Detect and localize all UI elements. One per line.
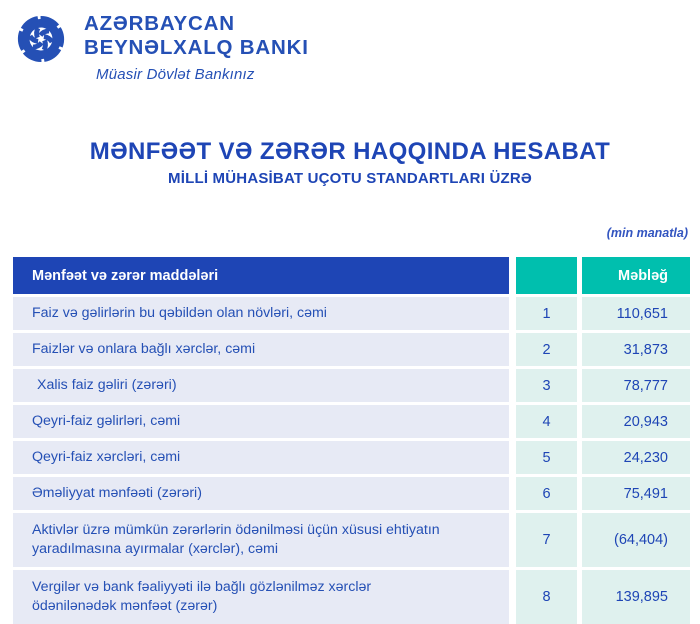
table-body: Faiz və gəlirlərin bu qəbildən olan növl… bbox=[13, 297, 690, 624]
row-number-cell: 7 bbox=[516, 513, 577, 567]
table-row: Qeyri-faiz gəlirləri, cəmi420,943 bbox=[13, 405, 690, 438]
table-row: Xalis faiz gəliri (zərəri)378,777 bbox=[13, 369, 690, 402]
pinwheel-star-logo-icon bbox=[8, 8, 74, 70]
row-number-cell: 6 bbox=[516, 477, 577, 510]
row-amount-cell: (64,404) bbox=[582, 513, 690, 567]
row-label-cell: Faiz və gəlirlərin bu qəbildən olan növl… bbox=[13, 297, 509, 330]
row-amount-cell: 24,230 bbox=[582, 441, 690, 474]
table-header-row: Mənfəət və zərər maddələri Məbləğ bbox=[13, 257, 690, 294]
brand-header: AZƏRBAYCAN BEYNƏLXALQ BANKI Müasir Dövlə… bbox=[0, 0, 700, 100]
row-number-cell: 1 bbox=[516, 297, 577, 330]
row-label-line-2: yaradılmasına ayırmalar (xərclər), cəmi bbox=[32, 540, 440, 559]
row-label-cell: Xalis faiz gəliri (zərəri) bbox=[13, 369, 509, 402]
row-amount-cell: 110,651 bbox=[582, 297, 690, 330]
row-amount-cell: 20,943 bbox=[582, 405, 690, 438]
table-row: Vergilər və bank fəaliyyəti ilə bağlı gö… bbox=[13, 570, 690, 624]
row-number-cell: 5 bbox=[516, 441, 577, 474]
column-divider bbox=[509, 441, 516, 474]
units-note: (min manatla) bbox=[607, 226, 688, 240]
row-label-cell: Qeyri-faiz xərcləri, cəmi bbox=[13, 441, 509, 474]
column-header-label: Mənfəət və zərər maddələri bbox=[13, 257, 509, 294]
row-label-cell: Aktivlər üzrə mümkün zərərlərin ödənilmə… bbox=[13, 513, 509, 567]
table-row: Əməliyyat mənfəəti (zərəri)675,491 bbox=[13, 477, 690, 510]
report-title: MƏNFƏƏT VƏ ZƏRƏR HAQQINDA HESABAT bbox=[0, 138, 700, 166]
brand-tagline: Müasir Dövlət Bankınız bbox=[96, 66, 309, 83]
column-divider bbox=[509, 570, 516, 624]
column-header-amount: Məbləğ bbox=[582, 257, 690, 294]
table-row: Faiz və gəlirlərin bu qəbildən olan növl… bbox=[13, 297, 690, 330]
column-divider bbox=[509, 513, 516, 567]
row-label-line-1: Faizlər və onlara bağlı xərclər, cəmi bbox=[32, 340, 255, 359]
row-amount-cell: 75,491 bbox=[582, 477, 690, 510]
brand-name-line-2: BEYNƏLXALQ BANKI bbox=[84, 36, 309, 60]
column-divider bbox=[509, 477, 516, 510]
row-label-line-1: Əməliyyat mənfəəti (zərəri) bbox=[32, 484, 202, 503]
table-row: Faizlər və onlara bağlı xərclər, cəmi231… bbox=[13, 333, 690, 366]
row-label-cell: Qeyri-faiz gəlirləri, cəmi bbox=[13, 405, 509, 438]
row-number-cell: 8 bbox=[516, 570, 577, 624]
brand-name-line-1: AZƏRBAYCAN bbox=[84, 12, 309, 36]
row-label-cell: Vergilər və bank fəaliyyəti ilə bağlı gö… bbox=[13, 570, 509, 624]
column-divider bbox=[509, 297, 516, 330]
column-divider bbox=[509, 369, 516, 402]
brand-text-block: AZƏRBAYCAN BEYNƏLXALQ BANKI Müasir Dövlə… bbox=[84, 12, 309, 83]
table-row: Qeyri-faiz xərcləri, cəmi524,230 bbox=[13, 441, 690, 474]
row-label-cell: Əməliyyat mənfəəti (zərəri) bbox=[13, 477, 509, 510]
column-header-number bbox=[516, 257, 577, 294]
row-label-line-1: Qeyri-faiz xərcləri, cəmi bbox=[32, 448, 180, 467]
row-label-line-2: ödənilənədək mənfəət (zərər) bbox=[32, 597, 371, 616]
table-header: Mənfəət və zərər maddələri Məbləğ bbox=[13, 257, 690, 294]
row-number-cell: 4 bbox=[516, 405, 577, 438]
profit-loss-table: Mənfəət və zərər maddələri Məbləğ Faiz v… bbox=[13, 257, 690, 624]
column-divider bbox=[509, 257, 516, 294]
column-divider bbox=[509, 405, 516, 438]
report-subtitle: MİLLİ MÜHASİBAT UÇOTU STANDARTLARI ÜZRƏ bbox=[0, 170, 700, 187]
row-amount-cell: 78,777 bbox=[582, 369, 690, 402]
column-divider bbox=[509, 333, 516, 366]
row-label-line-1: Faiz və gəlirlərin bu qəbildən olan növl… bbox=[32, 304, 327, 323]
row-amount-cell: 139,895 bbox=[582, 570, 690, 624]
row-amount-cell: 31,873 bbox=[582, 333, 690, 366]
row-label-cell: Faizlər və onlara bağlı xərclər, cəmi bbox=[13, 333, 509, 366]
table-row: Aktivlər üzrə mümkün zərərlərin ödənilmə… bbox=[13, 513, 690, 567]
row-number-cell: 2 bbox=[516, 333, 577, 366]
row-label-line-1: Xalis faiz gəliri (zərəri) bbox=[37, 376, 177, 395]
row-label-line-1: Vergilər və bank fəaliyyəti ilə bağlı gö… bbox=[32, 578, 371, 597]
row-number-cell: 3 bbox=[516, 369, 577, 402]
row-label-line-1: Qeyri-faiz gəlirləri, cəmi bbox=[32, 412, 180, 431]
row-label-line-1: Aktivlər üzrə mümkün zərərlərin ödənilmə… bbox=[32, 521, 440, 540]
